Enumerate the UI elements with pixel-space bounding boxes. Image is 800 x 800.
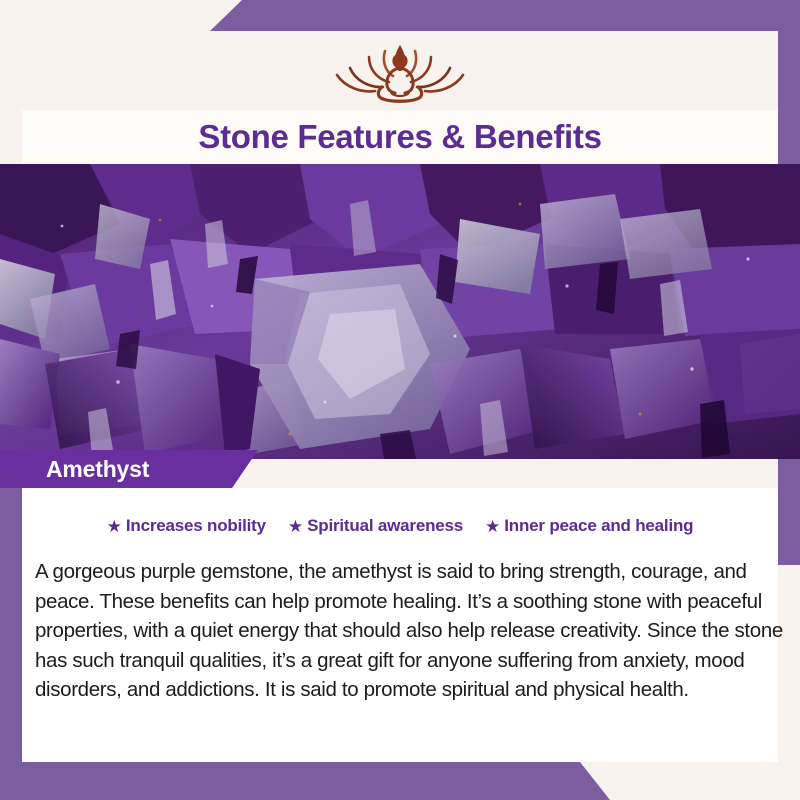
title-banner: Stone Features & Benefits — [22, 110, 778, 164]
frame-bar-left — [0, 487, 22, 800]
star-icon: ★ — [107, 518, 122, 535]
benefit-item-0: ★ Increases nobility — [107, 516, 266, 536]
star-icon: ★ — [288, 518, 303, 535]
stone-name-banner: Amethyst — [0, 450, 258, 488]
benefit-label: Inner peace and healing — [504, 516, 693, 536]
lotus-meditation-icon — [325, 35, 475, 109]
stone-name: Amethyst — [46, 456, 149, 483]
benefit-item-2: ★ Inner peace and healing — [485, 516, 693, 536]
benefit-label: Increases nobility — [126, 516, 266, 536]
amethyst-crystal-image — [0, 164, 800, 459]
stone-description: A gorgeous purple gemstone, the amethyst… — [35, 557, 785, 705]
benefit-label: Spiritual awareness — [307, 516, 463, 536]
benefits-list: ★ Increases nobility ★ Spiritual awarene… — [22, 516, 778, 536]
benefit-item-1: ★ Spiritual awareness — [288, 516, 463, 536]
frame-bar-bottom — [0, 762, 610, 800]
star-icon: ★ — [485, 518, 500, 535]
stone-info-card: BUDDHA STONES Stone Features & Benefits — [0, 0, 800, 800]
page-title: Stone Features & Benefits — [198, 118, 601, 156]
stone-photo — [0, 164, 800, 459]
frame-bar-top — [210, 0, 800, 31]
